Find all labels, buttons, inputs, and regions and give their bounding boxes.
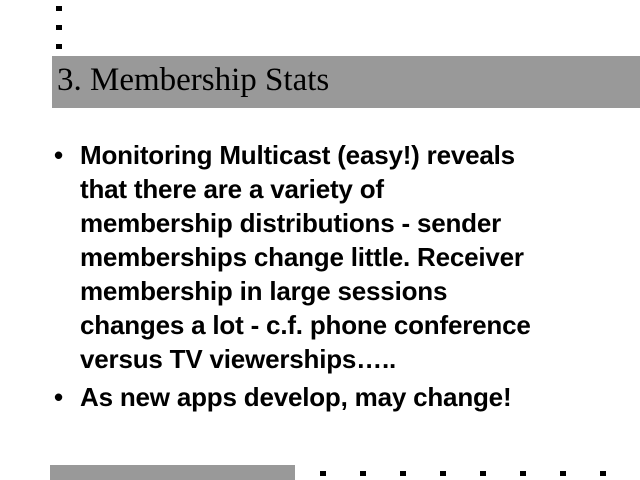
footer-dot (480, 471, 486, 476)
footer-dot (520, 471, 526, 476)
footer-dot (560, 471, 566, 476)
bullet-line: versus TV viewerships….. (80, 342, 610, 376)
bullet-line: membership distributions - sender (80, 206, 610, 240)
bullet-line: Monitoring Multicast (easy!) reveals (80, 138, 610, 172)
footer-dot (440, 471, 446, 476)
footer-dot (400, 471, 406, 476)
bullet-marker-icon: • (54, 380, 63, 414)
bullet-text: Monitoring Multicast (easy!) reveals tha… (50, 138, 610, 376)
bullet-line: that there are a variety of (80, 172, 610, 206)
bullet-line: memberships change little. Receiver (80, 240, 610, 274)
footer-dot-row (300, 465, 640, 480)
residual-bullet-dot (56, 25, 62, 30)
footer-dot (600, 471, 606, 476)
bullet-item: • As new apps develop, may change! (50, 380, 610, 414)
slide-title: 3. Membership Stats (57, 54, 329, 106)
footer-banner (50, 465, 295, 480)
bullet-line: As new apps develop, may change! (80, 380, 610, 414)
title-banner: 3. Membership Stats (52, 56, 640, 108)
slide-body: • Monitoring Multicast (easy!) reveals t… (50, 138, 610, 418)
presentation-slide: 3. Membership Stats • Monitoring Multica… (0, 0, 640, 480)
footer-dot (360, 471, 366, 476)
footer-dot (320, 471, 326, 476)
residual-bullet-dot (56, 44, 62, 49)
bullet-item: • Monitoring Multicast (easy!) reveals t… (50, 138, 610, 376)
bullet-text: As new apps develop, may change! (50, 380, 610, 414)
bullet-marker-icon: • (54, 138, 63, 172)
bullet-line: membership in large sessions (80, 274, 610, 308)
residual-bullet-dot (56, 6, 62, 11)
residual-bullet-dots (56, 0, 96, 54)
bullet-line: changes a lot - c.f. phone conference (80, 308, 610, 342)
